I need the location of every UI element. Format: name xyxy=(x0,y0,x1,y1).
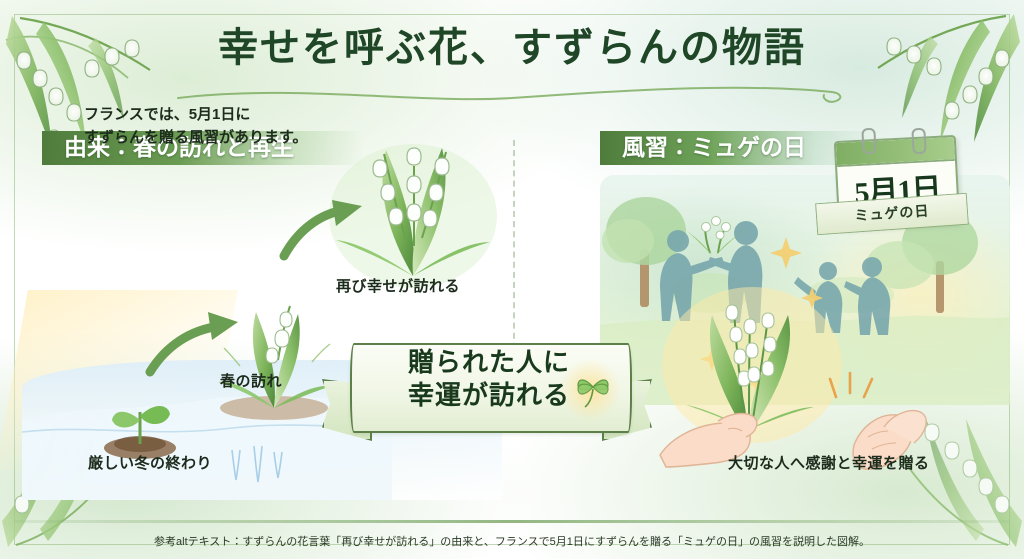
footer-divider xyxy=(14,520,1010,523)
ribbon-subtext-line2: すずらんを贈る風習があります。 xyxy=(84,127,334,150)
ribbon-subtext: フランスでは、5月1日に すずらんを贈る風習があります。 xyxy=(84,104,334,149)
arrow-spring-to-bloom-icon xyxy=(278,200,368,270)
page-title-block: 幸せを呼ぶ花、すずらんの物語 xyxy=(0,26,1024,70)
calendar-header-bar xyxy=(836,137,955,167)
ribbon-message-line2: 幸運が訪れる xyxy=(360,380,618,413)
footer-alt-text: 参考altテキスト：すずらんの花言葉「再び幸せが訪れる」の由来と、フランスで5月… xyxy=(0,533,1024,549)
calendar-widget: 5月1日 ミュゲの日 xyxy=(836,128,962,224)
ribbon-message: 贈られた人に 幸運が訪れる xyxy=(360,347,618,412)
small-bouquet-icon xyxy=(684,217,746,256)
ribbon-subtext-line1: フランスでは、5月1日に xyxy=(84,104,334,127)
stage-label-spring: 春の訪れ xyxy=(220,370,282,391)
stage-label-happiness: 再び幸せが訪れる xyxy=(336,275,460,296)
key-message-ribbon: 贈られた人に 幸運が訪れる xyxy=(322,335,652,455)
calendar-ring-left-icon xyxy=(861,128,876,155)
caption-gift-gratitude: 大切な人へ感謝と幸運を贈る xyxy=(728,452,930,473)
infographic-canvas: 幸せを呼ぶ花、すずらんの物語 由来：春の訪れと再生 風習：ミュゲの日 xyxy=(0,0,1024,559)
ribbon-message-line1: 贈られた人に xyxy=(360,347,618,380)
stage-label-winter: 厳しい冬の終わり xyxy=(88,452,212,473)
page-title: 幸せを呼ぶ花、すずらんの物語 xyxy=(0,26,1024,70)
calendar-ring-right-icon xyxy=(911,128,926,155)
